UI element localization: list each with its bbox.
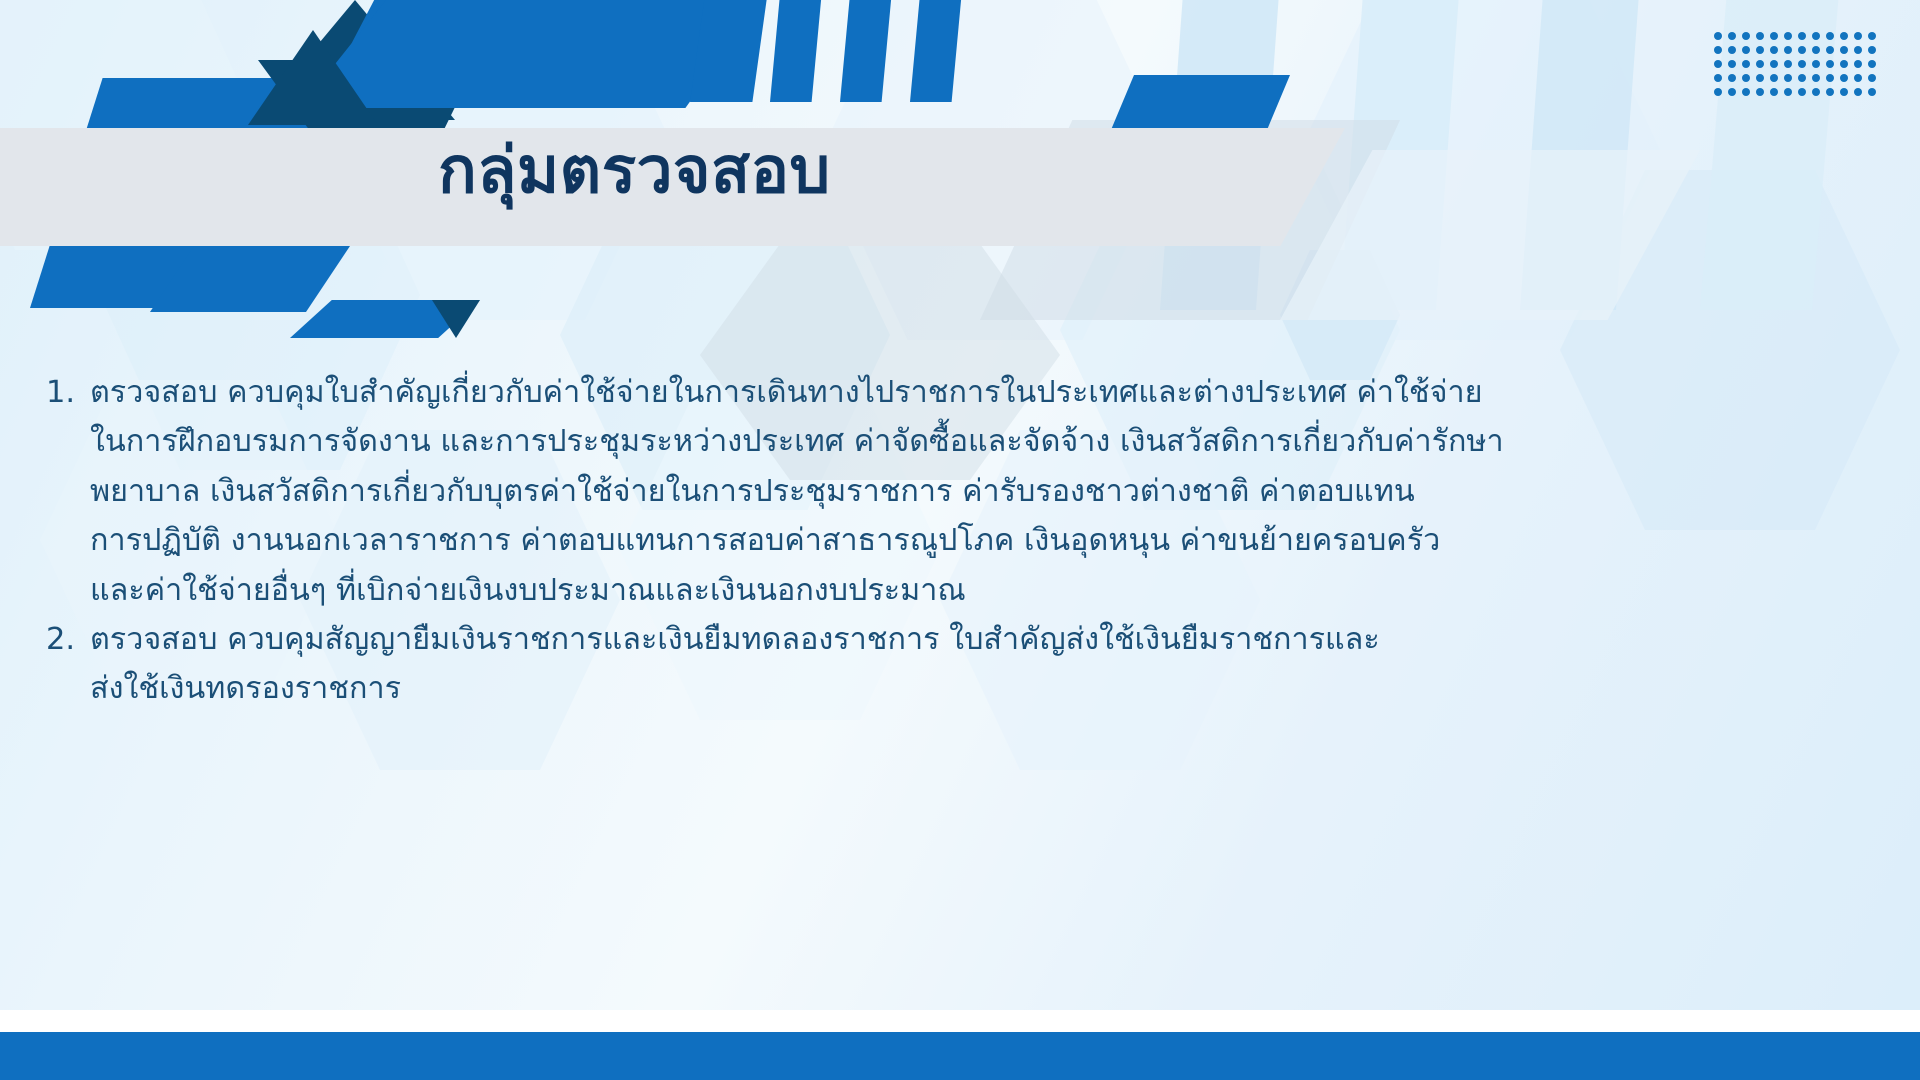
dot <box>1756 88 1764 96</box>
dot <box>1742 60 1750 68</box>
dot <box>1868 60 1876 68</box>
dot <box>1868 88 1876 96</box>
list-item: 1. ตรวจสอบ ควบคุมใบสำคัญเกี่ยวกับค่าใช้จ… <box>46 368 1886 615</box>
dot <box>1840 74 1848 82</box>
page-title: กลุ่มตรวจสอบ <box>438 136 831 206</box>
dot <box>1840 46 1848 54</box>
dot <box>1798 60 1806 68</box>
dot <box>1714 46 1722 54</box>
content-list: 1. ตรวจสอบ ควบคุมใบสำคัญเกี่ยวกับค่าใช้จ… <box>46 368 1886 714</box>
list-item-text: ตรวจสอบ ควบคุมใบสำคัญเกี่ยวกับค่าใช้จ่าย… <box>90 368 1886 615</box>
dot <box>1826 88 1834 96</box>
dot <box>1812 32 1820 40</box>
dot <box>1728 46 1736 54</box>
slide: กลุ่มตรวจสอบ 1. ตรวจสอบ ควบคุมใบสำคัญเกี… <box>0 0 1920 1080</box>
dot <box>1798 74 1806 82</box>
dot <box>1756 46 1764 54</box>
dot <box>1728 88 1736 96</box>
footer-bar <box>0 1032 1920 1080</box>
dot <box>1798 88 1806 96</box>
dot <box>1742 46 1750 54</box>
dot <box>1784 46 1792 54</box>
dot <box>1728 60 1736 68</box>
dot <box>1728 32 1736 40</box>
dot <box>1770 46 1778 54</box>
dot <box>1756 60 1764 68</box>
dot <box>1798 46 1806 54</box>
dot <box>1728 74 1736 82</box>
dot <box>1714 32 1722 40</box>
list-item-number: 2. <box>46 615 90 664</box>
dot <box>1868 32 1876 40</box>
dot-grid-icon <box>1714 32 1882 102</box>
dot <box>1812 60 1820 68</box>
dot <box>1714 88 1722 96</box>
dot <box>1854 46 1862 54</box>
dot <box>1840 32 1848 40</box>
dot <box>1756 32 1764 40</box>
list-item-text: ตรวจสอบ ควบคุมสัญญายืมเงินราชการและเงินย… <box>90 615 1886 714</box>
dot <box>1742 74 1750 82</box>
dot <box>1868 74 1876 82</box>
dot <box>1756 74 1764 82</box>
dot <box>1784 32 1792 40</box>
dot <box>1854 88 1862 96</box>
dot <box>1812 74 1820 82</box>
dot <box>1826 74 1834 82</box>
dot <box>1840 88 1848 96</box>
dot <box>1784 60 1792 68</box>
dot <box>1770 74 1778 82</box>
dot <box>1770 60 1778 68</box>
dot <box>1854 60 1862 68</box>
dot <box>1826 60 1834 68</box>
dot <box>1770 32 1778 40</box>
dot <box>1826 32 1834 40</box>
list-item: 2. ตรวจสอบ ควบคุมสัญญายืมเงินราชการและเง… <box>46 615 1886 714</box>
dot <box>1826 46 1834 54</box>
dot <box>1812 46 1820 54</box>
dot <box>1868 46 1876 54</box>
dot <box>1798 32 1806 40</box>
dot <box>1714 60 1722 68</box>
dot <box>1770 88 1778 96</box>
dot <box>1714 74 1722 82</box>
dot <box>1742 32 1750 40</box>
dot <box>1784 88 1792 96</box>
dot <box>1854 74 1862 82</box>
list-item-number: 1. <box>46 368 90 417</box>
dot <box>1784 74 1792 82</box>
dot <box>1742 88 1750 96</box>
dot <box>1840 60 1848 68</box>
dot <box>1812 88 1820 96</box>
dot <box>1854 32 1862 40</box>
